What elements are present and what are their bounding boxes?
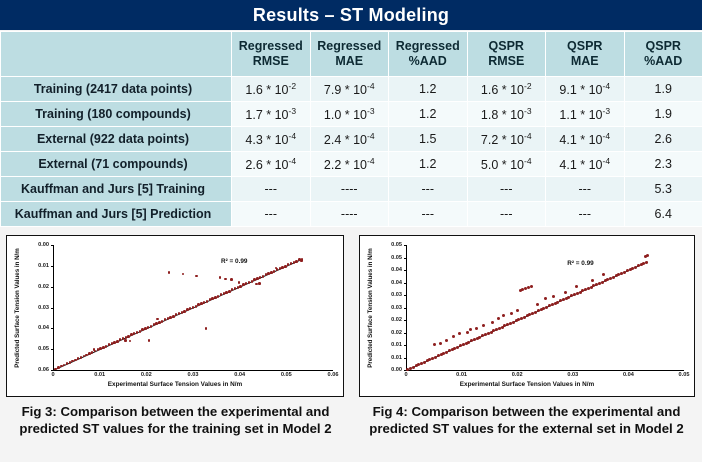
table-cell: 1.5	[389, 127, 468, 152]
x-tick-label: 0	[51, 372, 54, 378]
data-point	[156, 318, 159, 321]
table-cell: 2.2 * 10-4	[310, 152, 389, 177]
table-cell: 2.4 * 10-4	[310, 127, 389, 152]
row-label: External (71 compounds)	[1, 152, 232, 177]
x-tick-label: 0.02	[512, 372, 523, 378]
table-cell: 5.0 * 10-4	[467, 152, 546, 177]
data-point	[482, 324, 485, 327]
table-cell: ---	[232, 177, 311, 202]
x-tick-label: 0.06	[328, 372, 339, 378]
y-tick-mark	[404, 283, 406, 284]
y-tick-mark	[51, 245, 53, 246]
data-point	[552, 295, 555, 298]
x-axis-line	[406, 370, 684, 371]
y-tick-mark	[51, 308, 53, 309]
x-axis-label: Experimental Surface Tension Values in N…	[7, 381, 343, 388]
data-point	[445, 339, 448, 342]
table-header-col-2: RegressedMAE	[310, 32, 389, 77]
chart-4: 0.050.050.040.040.030.030.020.020.010.01…	[359, 235, 695, 397]
data-point	[148, 339, 151, 342]
table-cell: 4.1 * 10-4	[546, 152, 625, 177]
table-cell: ----	[310, 177, 389, 202]
table-cell: 4.1 * 10-4	[546, 127, 625, 152]
y-tick-mark	[404, 295, 406, 296]
table-cell: ---	[546, 202, 625, 227]
data-point	[206, 300, 209, 303]
x-tick-label: 0.04	[234, 372, 245, 378]
data-point	[230, 278, 233, 281]
data-point	[469, 328, 472, 331]
data-point	[54, 368, 57, 371]
table-header-col-4: QSPRRMSE	[467, 32, 546, 77]
data-point	[205, 327, 208, 330]
table-cell: 1.2	[389, 152, 468, 177]
y-tick-mark	[51, 349, 53, 350]
table-row: Training (180 compounds)1.7 * 10-31.0 * …	[1, 102, 702, 127]
y-tick-mark	[404, 358, 406, 359]
data-point	[195, 275, 198, 278]
chart-3: 0.000.010.020.030.040.050.0600.010.020.0…	[6, 235, 344, 397]
table-row: External (922 data points)4.3 * 10-42.4 …	[1, 127, 702, 152]
table-cell: 1.0 * 10-3	[310, 102, 389, 127]
header-line1: QSPR	[646, 39, 681, 53]
y-tick-mark	[51, 328, 53, 329]
data-point	[124, 339, 127, 342]
slide-title-bar: Results – ST Modeling	[0, 0, 702, 30]
table-body: Training (2417 data points)1.6 * 10-27.9…	[1, 77, 702, 227]
table-cell: 1.1 * 10-3	[546, 102, 625, 127]
data-point	[591, 279, 594, 282]
row-label: External (922 data points)	[1, 127, 232, 152]
header-line2: %AAD	[644, 54, 682, 68]
table-cell: 9.1 * 10-4	[546, 77, 625, 102]
x-tick-label: 0.05	[679, 372, 690, 378]
header-line2: MAE	[571, 54, 599, 68]
table-cell: 1.7 * 10-3	[232, 102, 311, 127]
table-cell: 1.8 * 10-3	[467, 102, 546, 127]
data-point	[466, 331, 469, 334]
table-cell: 2.6 * 10-4	[232, 152, 311, 177]
header-line1: QSPR	[489, 39, 524, 53]
table-cell: 7.2 * 10-4	[467, 127, 546, 152]
header-line1: QSPR	[567, 39, 602, 53]
header-line1: Regressed	[396, 39, 460, 53]
table-header: RegressedRMSERegressedMAERegressed%AADQS…	[1, 32, 702, 77]
data-point	[290, 262, 293, 265]
x-tick-label: 0	[404, 372, 407, 378]
results-table: RegressedRMSERegressedMAERegressed%AADQS…	[0, 31, 702, 227]
figure-4-caption: Fig 4: Comparison between the experiment…	[359, 403, 694, 437]
data-point	[224, 278, 227, 281]
table-cell: 4.3 * 10-4	[232, 127, 311, 152]
slide: Results – ST Modeling RegressedRMSERegre…	[0, 0, 702, 462]
y-axis-line	[406, 245, 407, 370]
header-line2: %AAD	[409, 54, 447, 68]
table-cell: ---	[467, 202, 546, 227]
data-point	[178, 312, 181, 315]
x-axis-line	[53, 370, 333, 371]
x-tick-label: 0.03	[567, 372, 578, 378]
page-title: Results – ST Modeling	[0, 0, 702, 30]
table-cell: ---	[467, 177, 546, 202]
data-point	[536, 303, 539, 306]
table-cell: 1.9	[624, 102, 702, 127]
table-cell: 1.2	[389, 77, 468, 102]
table-header-col-5: QSPRMAE	[546, 32, 625, 77]
x-tick-label: 0.04	[623, 372, 634, 378]
y-tick-mark	[404, 258, 406, 259]
data-point	[530, 285, 533, 288]
x-tick-label: 0.01	[456, 372, 467, 378]
table-row: Kauffman and Jurs [5] Training----------…	[1, 177, 702, 202]
data-point	[516, 309, 519, 312]
data-point	[645, 261, 648, 264]
y-tick-mark	[404, 345, 406, 346]
data-point	[182, 273, 185, 276]
table-cell: 1.9	[624, 77, 702, 102]
data-point	[262, 275, 265, 278]
y-axis-label: Predicted Surface Tension Values in N/m	[14, 248, 22, 368]
x-tick-label: 0.01	[94, 372, 105, 378]
data-point	[475, 327, 478, 330]
figure-3: 0.000.010.020.030.040.050.0600.010.020.0…	[0, 231, 351, 462]
table-cell: 1.6 * 10-2	[232, 77, 311, 102]
table-cell: 2.3	[624, 152, 702, 177]
header-line2: RMSE	[488, 54, 524, 68]
x-tick-label: 0.03	[188, 372, 199, 378]
table-header-row: RegressedRMSERegressedMAERegressed%AADQS…	[1, 32, 702, 77]
data-point	[458, 332, 461, 335]
table-cell: 1.6 * 10-2	[467, 77, 546, 102]
x-tick-label: 0.05	[281, 372, 292, 378]
data-point	[502, 314, 505, 317]
table-row: Kauffman and Jurs [5] Prediction--------…	[1, 202, 702, 227]
table-cell: ----	[310, 202, 389, 227]
figure-3-caption: Fig 3: Comparison between the experiment…	[8, 403, 343, 437]
data-point	[646, 254, 649, 257]
x-tick-label: 0.02	[141, 372, 152, 378]
data-point	[238, 281, 241, 284]
table-cell: 2.6	[624, 127, 702, 152]
data-point	[234, 287, 237, 290]
y-axis-label: Predicted Surface Tension Values in N/m	[367, 248, 375, 368]
y-tick-mark	[404, 308, 406, 309]
table-cell: ---	[389, 202, 468, 227]
data-point	[258, 282, 261, 285]
data-point	[439, 342, 442, 345]
row-label: Training (180 compounds)	[1, 102, 232, 127]
data-point	[575, 285, 578, 288]
data-point	[564, 291, 567, 294]
data-point	[452, 335, 455, 338]
data-point	[219, 276, 222, 279]
table-cell: 1.2	[389, 102, 468, 127]
data-point	[129, 340, 132, 343]
data-point	[602, 273, 605, 276]
header-line2: MAE	[335, 54, 363, 68]
data-point	[136, 331, 139, 334]
data-point	[510, 312, 513, 315]
header-line2: RMSE	[253, 54, 289, 68]
row-label: Training (2417 data points)	[1, 77, 232, 102]
table-cell: ---	[232, 202, 311, 227]
table-cell: ---	[389, 177, 468, 202]
table-cell: 6.4	[624, 202, 702, 227]
table-row: External (71 compounds)2.6 * 10-42.2 * 1…	[1, 152, 702, 177]
data-point	[248, 281, 251, 284]
data-point	[433, 343, 436, 346]
y-tick-mark	[404, 270, 406, 271]
r-squared-annotation: R² = 0.99	[567, 260, 593, 267]
y-tick-mark	[51, 287, 53, 288]
table-header-col-3: Regressed%AAD	[389, 32, 468, 77]
r-squared-annotation: R² = 0.99	[221, 258, 247, 265]
data-point	[150, 325, 153, 328]
y-tick-mark	[404, 320, 406, 321]
table-cell: 7.9 * 10-4	[310, 77, 389, 102]
table-cell: ---	[546, 177, 625, 202]
table-cell: 5.3	[624, 177, 702, 202]
figure-4: 0.050.050.040.040.030.030.020.020.010.01…	[351, 231, 702, 462]
data-point	[491, 321, 494, 324]
table-header-blank	[1, 32, 232, 77]
y-axis-line	[53, 245, 54, 370]
table-row: Training (2417 data points)1.6 * 10-27.9…	[1, 77, 702, 102]
row-label: Kauffman and Jurs [5] Training	[1, 177, 232, 202]
y-tick-mark	[51, 266, 53, 267]
y-tick-mark	[404, 245, 406, 246]
header-line1: Regressed	[239, 39, 303, 53]
data-point	[497, 317, 500, 320]
data-point	[192, 306, 195, 309]
data-point	[168, 271, 171, 274]
table-header-col-6: QSPR%AAD	[624, 32, 702, 77]
x-axis-label: Experimental Surface Tension Values in N…	[360, 381, 694, 388]
header-line1: Regressed	[317, 39, 381, 53]
data-point	[544, 297, 547, 300]
table-header-col-1: RegressedRMSE	[232, 32, 311, 77]
row-label: Kauffman and Jurs [5] Prediction	[1, 202, 232, 227]
y-tick-mark	[404, 333, 406, 334]
